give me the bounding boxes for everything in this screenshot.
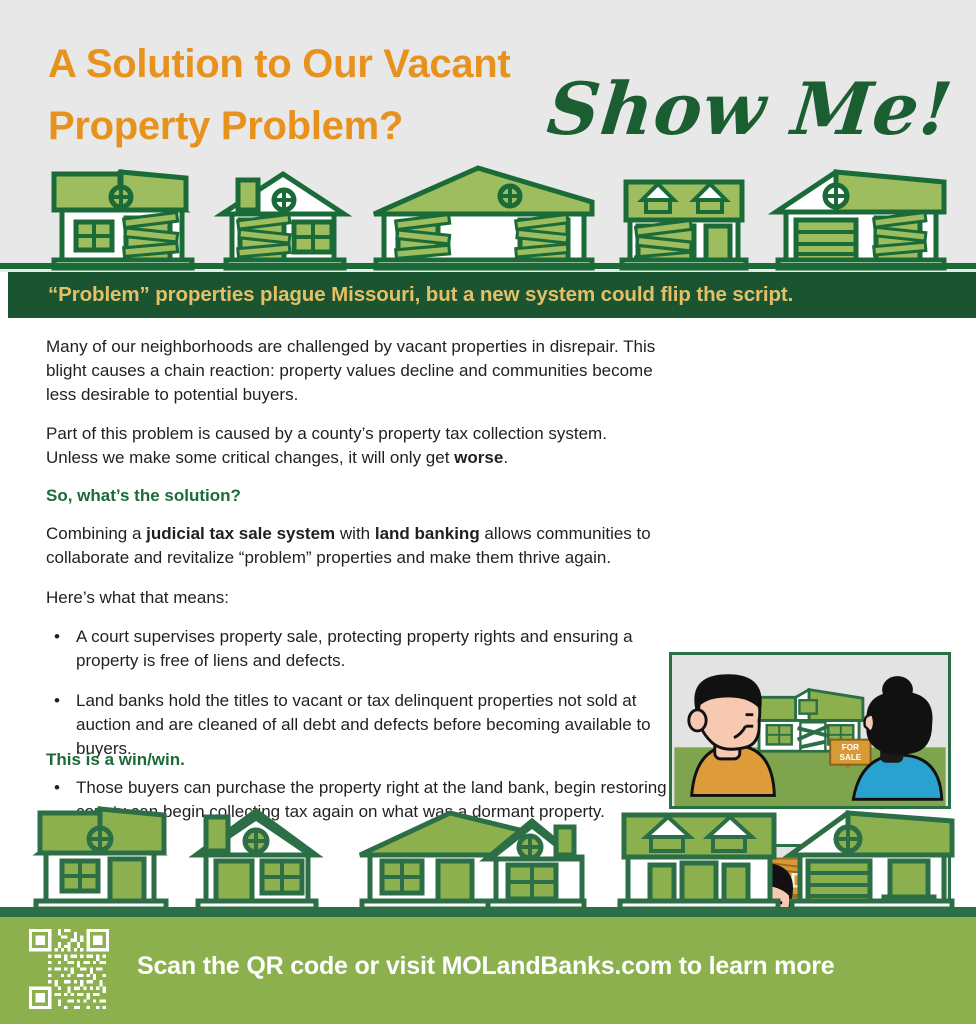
blighted-houses-row (0, 162, 976, 272)
footer-cta-text: Scan the QR code or visit MOLandBanks.co… (137, 952, 835, 981)
bullet-marker-icon: • (54, 689, 60, 713)
paragraph-3-emphasis-1: judicial tax sale system (146, 524, 335, 543)
bullet-marker-icon: • (54, 625, 60, 649)
paragraph-2-period: . (503, 448, 508, 467)
paragraph-3: Combining a judicial tax sale system wit… (46, 522, 656, 570)
qr-code[interactable] (29, 929, 109, 1009)
infographic-page: A Solution to Our Vacant Property Proble… (0, 0, 976, 1024)
paragraph-2-text: Part of this problem is caused by a coun… (46, 424, 607, 467)
show-me-script-text: Show Me! (544, 66, 957, 151)
for-sale-sign: FOR SALE (830, 740, 870, 769)
footer-divider (0, 913, 976, 917)
header-section: A Solution to Our Vacant Property Proble… (0, 0, 976, 272)
paragraph-2-emphasis: worse (454, 448, 503, 467)
paragraph-2: Part of this problem is caused by a coun… (46, 422, 656, 470)
tagline-banner: “Problem” properties plague Missouri, bu… (8, 272, 976, 318)
win-win-statement: This is a win/win. (46, 750, 185, 770)
tagline-text: “Problem” properties plague Missouri, bu… (8, 283, 793, 307)
list-item-text: A court supervises property sale, protec… (76, 627, 633, 670)
list-item: •A court supervises property sale, prote… (46, 625, 656, 673)
restored-houses-row (0, 795, 976, 915)
paragraph-3-start: Combining a (46, 524, 146, 543)
paragraph-3-mid: with (335, 524, 375, 543)
svg-text:FOR: FOR (842, 743, 859, 752)
paragraph-1: Many of our neighborhoods are challenged… (46, 335, 656, 406)
paragraph-3-emphasis-2: land banking (375, 524, 480, 543)
body-section: Many of our neighborhoods are challenged… (0, 318, 976, 788)
illustration-street-scene: FOR SALE (669, 652, 951, 809)
list-item-text: Land banks hold the titles to vacant or … (76, 691, 651, 758)
means-intro: Here’s what that means: (46, 586, 656, 610)
svg-text:SALE: SALE (840, 753, 862, 762)
solution-heading: So, what’s the solution? (46, 486, 656, 506)
